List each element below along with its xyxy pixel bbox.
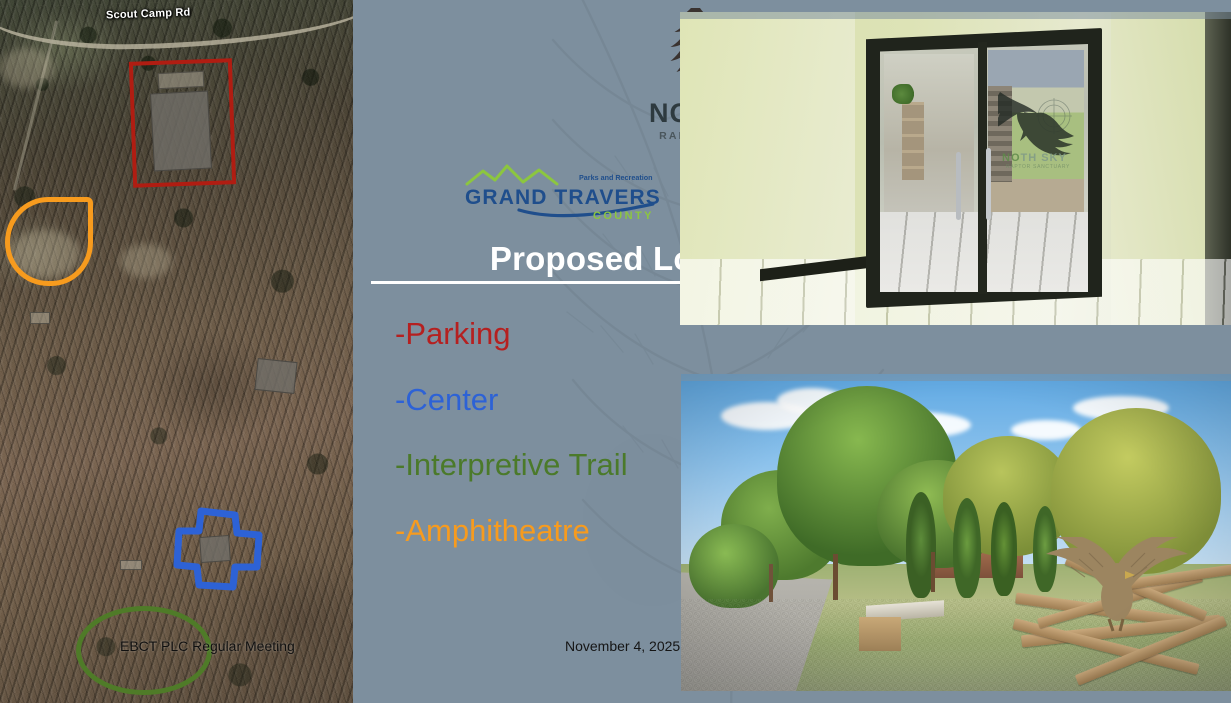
svg-text:COUNTY: COUNTY <box>593 210 654 222</box>
door-decal-word-primary: NO <box>1002 152 1021 164</box>
grand-traverse-county-logo: Parks and Recreation GRAND TRAVERSE COUN… <box>461 160 661 222</box>
presentation-slide: N NORTH SKY RAPTOR SANCTUARY <box>353 0 1231 703</box>
map-annotation-parking[interactable] <box>129 58 236 188</box>
exterior-render-top-band <box>681 374 1231 381</box>
map-building-shed <box>120 560 142 570</box>
exterior-render-vignette <box>681 374 1231 691</box>
interior-render-top-band <box>680 12 1231 19</box>
door-decal-subtitle: RAPTOR SANCTUARY <box>1006 164 1070 170</box>
map-clearing-mid <box>120 244 172 278</box>
slide-date: November 4, 2025 <box>565 638 680 654</box>
map-overlay-meeting-label: EBCT PLC Regular Meeting <box>120 638 295 654</box>
map-clearing-north <box>0 48 54 88</box>
aerial-map-panel[interactable]: Scout Camp Rd EBCT PLC Regular Meeting <box>0 0 353 703</box>
svg-text:GRAND TRAVERSE: GRAND TRAVERSE <box>465 186 661 209</box>
map-annotation-center[interactable] <box>171 505 267 593</box>
screenshot-stage: Scout Camp Rd EBCT PLC Regular Meeting <box>0 0 1231 703</box>
svg-text:Parks and Recreation: Parks and Recreation <box>579 173 653 182</box>
interior-entrance-render[interactable]: NOTH SKY RAPTOR SANCTUARY <box>680 12 1231 325</box>
door-decal-wordmark: NOTH SKY <box>1002 152 1067 164</box>
glass-view-shelving <box>902 102 924 180</box>
map-building-outbuilding <box>30 312 50 324</box>
map-building-midsite <box>254 358 297 394</box>
glass-door-handle-left[interactable] <box>956 152 961 220</box>
glass-door-handle-right[interactable] <box>986 148 991 220</box>
door-decal-word-secondary: TH SKY <box>1021 152 1067 164</box>
door-decal-eagle-icon <box>998 84 1080 156</box>
glass-view-plant <box>892 84 916 104</box>
map-annotation-amphitheatre[interactable] <box>5 197 93 286</box>
exterior-grounds-render[interactable] <box>681 374 1231 691</box>
